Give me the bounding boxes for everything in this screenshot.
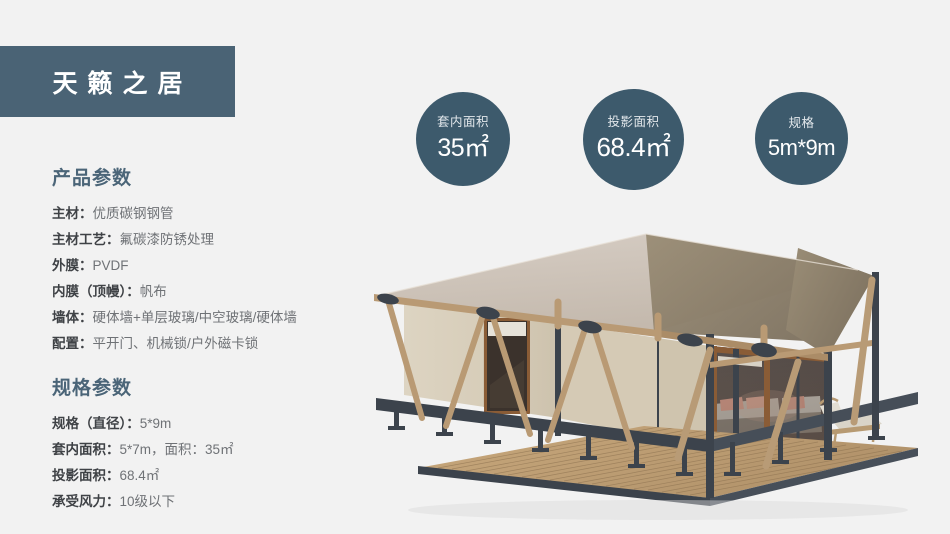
section-heading-product: 产品参数 <box>52 163 382 190</box>
param-row: 主材工艺：氟碳漆防锈处理 <box>52 227 382 253</box>
param-label: 投影面积： <box>52 468 120 483</box>
param-row: 套内面积：5*7m，面积：35㎡ <box>52 437 382 463</box>
param-value: 平开门、机械锁/户外磁卡锁 <box>93 336 259 351</box>
stat-circle-dimensions: 规格 5m*9m <box>755 92 848 185</box>
param-value: PVDF <box>93 258 129 273</box>
param-row: 投影面积：68.4㎡ <box>52 463 382 489</box>
stat-circle-interior-area: 套内面积 35㎡ <box>416 92 510 186</box>
param-label: 配置： <box>52 336 93 351</box>
title-banner: 天籁之居 <box>0 46 235 117</box>
stat-label: 规格 <box>788 117 814 131</box>
stat-value: 5m*9m <box>768 135 835 160</box>
product-spec-page: 天籁之居 产品参数 主材：优质碳钢钢管 主材工艺：氟碳漆防锈处理 外膜：PVDF… <box>0 0 950 534</box>
param-label: 承受风力： <box>52 494 120 509</box>
param-row: 配置：平开门、机械锁/户外磁卡锁 <box>52 331 382 357</box>
param-label: 墙体： <box>52 310 93 325</box>
param-value: 硬体墙+单层玻璃/中空玻璃/硬体墙 <box>93 310 297 325</box>
page-title: 天籁之居 <box>42 64 192 100</box>
param-row: 承受风力：10级以下 <box>52 489 382 515</box>
param-value: 10级以下 <box>120 494 176 509</box>
stat-label: 投影面积 <box>607 116 659 130</box>
param-value: 5*7m，面积：35㎡ <box>120 442 234 457</box>
param-value: 优质碳钢钢管 <box>93 206 174 221</box>
section-heading-specification: 规格参数 <box>52 373 382 400</box>
stat-circle-projected-area: 投影面积 68.4㎡ <box>583 89 684 190</box>
param-row: 墙体：硬体墙+单层玻璃/中空玻璃/硬体墙 <box>52 305 382 331</box>
param-value: 5*9m <box>140 416 172 431</box>
param-label: 外膜： <box>52 258 93 273</box>
param-label: 内膜（顶幔）： <box>52 284 140 299</box>
param-label: 主材： <box>52 206 93 221</box>
param-label: 规格（直径）： <box>52 416 140 431</box>
ground-shadow <box>408 500 908 520</box>
stat-value: 35㎡ <box>437 134 488 163</box>
stat-value: 68.4㎡ <box>596 133 670 163</box>
param-label: 主材工艺： <box>52 232 120 247</box>
spec-group-specification: 规格参数 规格（直径）：5*9m 套内面积：5*7m，面积：35㎡ 投影面积：6… <box>52 373 382 515</box>
param-value: 氟碳漆防锈处理 <box>120 232 215 247</box>
product-render-image: XUELI TENT <box>358 210 950 534</box>
param-row: 外膜：PVDF <box>52 253 382 279</box>
param-row: 内膜（顶幔）：帆布 <box>52 279 382 305</box>
spec-group-product: 产品参数 主材：优质碳钢钢管 主材工艺：氟碳漆防锈处理 外膜：PVDF 内膜（顶… <box>52 163 382 357</box>
safari-tent-3d-render: XUELI TENT <box>358 210 950 534</box>
param-row: 主材：优质碳钢钢管 <box>52 201 382 227</box>
param-label: 套内面积： <box>52 442 120 457</box>
stat-label: 套内面积 <box>437 116 489 130</box>
param-value: 帆布 <box>140 284 167 299</box>
spec-panel: 产品参数 主材：优质碳钢钢管 主材工艺：氟碳漆防锈处理 外膜：PVDF 内膜（顶… <box>52 163 382 515</box>
param-value: 68.4㎡ <box>120 468 160 483</box>
param-row: 规格（直径）：5*9m <box>52 411 382 437</box>
